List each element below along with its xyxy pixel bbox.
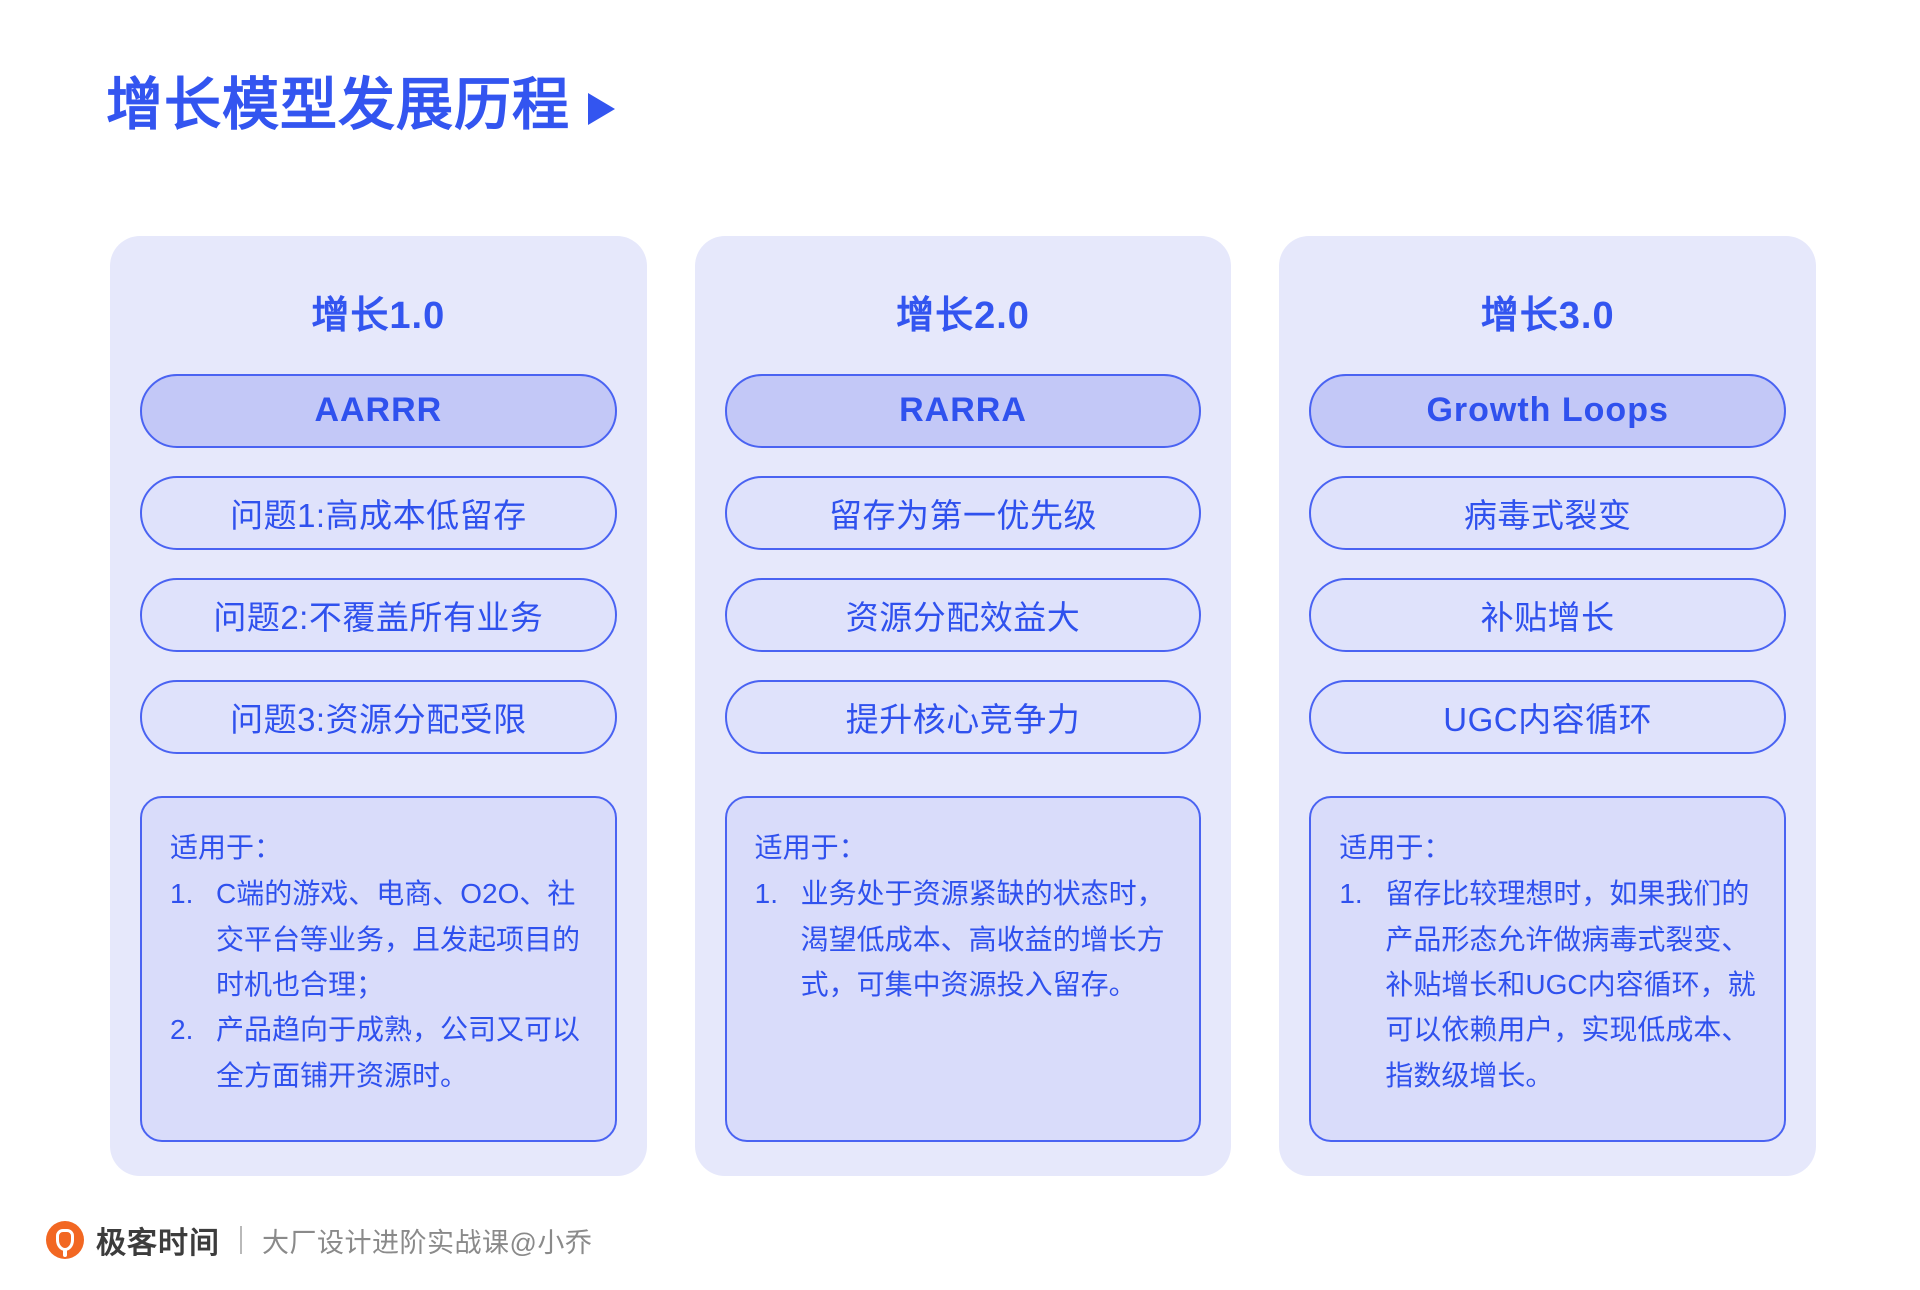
- growth-card-3-note-title: 适用于：: [1339, 826, 1758, 869]
- growth-card-3-pill-2[interactable]: 补贴增长: [1309, 578, 1786, 652]
- list-item-number: 2.: [170, 1007, 214, 1052]
- growth-card-3-note: 适用于： 1.留存比较理想时，如果我们的产品形态允许做病毒式裂变、补贴增长和UG…: [1309, 796, 1786, 1142]
- list-item-text: C端的游戏、电商、O2O、社交平台等业务，且发起项目的时机也合理；: [216, 878, 580, 1000]
- growth-card-1-note-title: 适用于：: [170, 826, 589, 869]
- growth-card-3-pill-3[interactable]: UGC内容循环: [1309, 680, 1786, 754]
- slide-root: 增长模型发展历程 增长1.0 AARRR 问题1:高成本低留存 问题2:不覆盖所…: [0, 0, 1920, 1290]
- list-item: 1.C端的游戏、电商、O2O、社交平台等业务，且发起项目的时机也合理；: [170, 871, 589, 1007]
- list-item: 1.业务处于资源紧缺的状态时，渴望低成本、高收益的增长方式，可集中资源投入留存。: [755, 871, 1174, 1007]
- list-item: 1.留存比较理想时，如果我们的产品形态允许做病毒式裂变、补贴增长和UGC内容循环…: [1339, 871, 1758, 1098]
- growth-card-2-pill-2[interactable]: 资源分配效益大: [725, 578, 1202, 652]
- growth-card-2: 增长2.0 RARRA 留存为第一优先级 资源分配效益大 提升核心竞争力 适用于…: [695, 236, 1232, 1176]
- growth-card-3-pill-1[interactable]: 病毒式裂变: [1309, 476, 1786, 550]
- growth-card-3-title: 增长3.0: [1309, 296, 1786, 338]
- growth-card-2-pill-1[interactable]: 留存为第一优先级: [725, 476, 1202, 550]
- page-title-text: 增长模型发展历程: [106, 76, 570, 136]
- page-title: 增长模型发展历程: [106, 76, 615, 136]
- play-triangle-icon: [588, 93, 615, 125]
- list-item: 2.产品趋向于成熟，公司又可以全方面铺开资源时。: [170, 1007, 589, 1098]
- growth-card-1-pill-3[interactable]: 问题3:资源分配受限: [140, 680, 617, 754]
- growth-card-2-note: 适用于： 1.业务处于资源紧缺的状态时，渴望低成本、高收益的增长方式，可集中资源…: [725, 796, 1202, 1142]
- growth-card-1-title: 增长1.0: [140, 296, 617, 338]
- list-item-text: 留存比较理想时，如果我们的产品形态允许做病毒式裂变、补贴增长和UGC内容循环，就…: [1385, 878, 1755, 1090]
- footer-brand: 极客时间: [96, 1218, 220, 1262]
- list-item-text: 产品趋向于成熟，公司又可以全方面铺开资源时。: [216, 1014, 580, 1090]
- growth-card-2-note-title: 适用于：: [755, 826, 1174, 869]
- list-item-number: 1.: [755, 871, 799, 916]
- growth-model-columns: 增长1.0 AARRR 问题1:高成本低留存 问题2:不覆盖所有业务 问题3:资…: [110, 236, 1816, 1176]
- list-item-number: 1.: [170, 871, 214, 916]
- footer-course: 大厂设计进阶实战课@小乔: [262, 1221, 592, 1260]
- growth-card-2-note-list: 1.业务处于资源紧缺的状态时，渴望低成本、高收益的增长方式，可集中资源投入留存。: [755, 871, 1174, 1007]
- growth-card-3-model-pill[interactable]: Growth Loops: [1309, 374, 1786, 448]
- growth-card-2-model-pill[interactable]: RARRA: [725, 374, 1202, 448]
- list-item-text: 业务处于资源紧缺的状态时，渴望低成本、高收益的增长方式，可集中资源投入留存。: [801, 878, 1165, 1000]
- growth-card-3-note-list: 1.留存比较理想时，如果我们的产品形态允许做病毒式裂变、补贴增长和UGC内容循环…: [1339, 871, 1758, 1098]
- footer-divider: [240, 1226, 242, 1254]
- growth-card-3: 增长3.0 Growth Loops 病毒式裂变 补贴增长 UGC内容循环 适用…: [1279, 236, 1816, 1176]
- growth-card-1-note: 适用于： 1.C端的游戏、电商、O2O、社交平台等业务，且发起项目的时机也合理；…: [140, 796, 617, 1142]
- growth-card-2-pill-3[interactable]: 提升核心竞争力: [725, 680, 1202, 754]
- growth-card-1-pill-2[interactable]: 问题2:不覆盖所有业务: [140, 578, 617, 652]
- growth-card-1-model-pill[interactable]: AARRR: [140, 374, 617, 448]
- list-item-number: 1.: [1339, 871, 1383, 916]
- growth-card-1-note-list: 1.C端的游戏、电商、O2O、社交平台等业务，且发起项目的时机也合理； 2.产品…: [170, 871, 589, 1098]
- growth-card-1-pill-1[interactable]: 问题1:高成本低留存: [140, 476, 617, 550]
- geekbang-logo-icon: [46, 1221, 84, 1259]
- growth-card-2-title: 增长2.0: [725, 296, 1202, 338]
- footer: 极客时间 大厂设计进阶实战课@小乔: [46, 1218, 592, 1262]
- growth-card-1: 增长1.0 AARRR 问题1:高成本低留存 问题2:不覆盖所有业务 问题3:资…: [110, 236, 647, 1176]
